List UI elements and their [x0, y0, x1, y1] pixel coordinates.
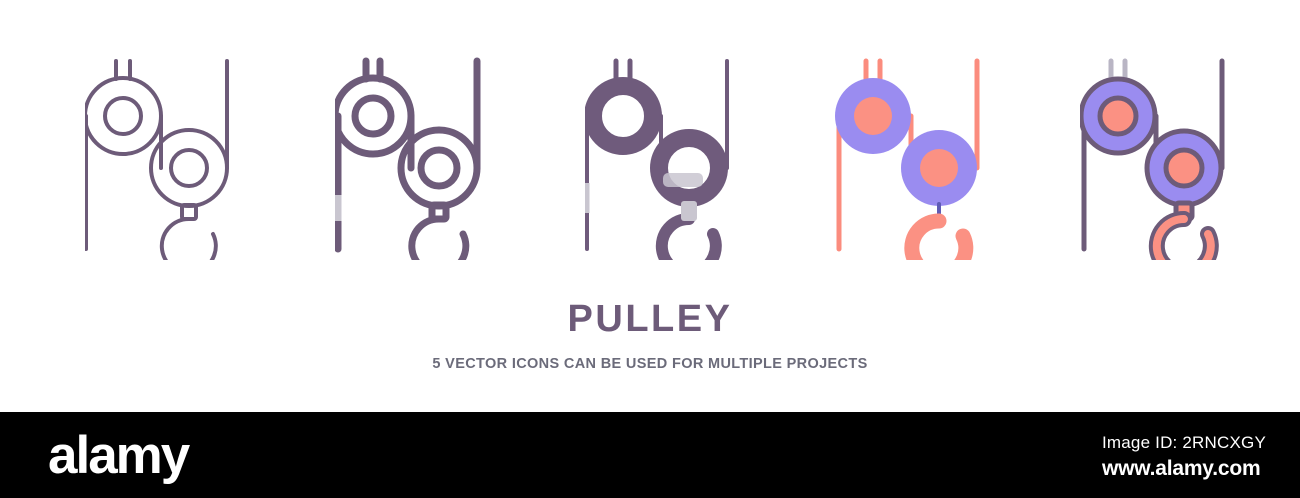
hook-curve: [412, 219, 466, 260]
alamy-logo: alamy: [48, 429, 188, 482]
image-id-label: Image ID: 2RNCXGY: [1102, 432, 1266, 454]
lower-wheel-hub: [1166, 150, 1202, 186]
page-subtitle: 5 VECTOR ICONS CAN BE USED FOR MULTIPLE …: [0, 356, 1300, 372]
alamy-url: www.alamy.com: [1102, 456, 1266, 482]
icon-strip: [0, 0, 1300, 290]
upper-wheel-hub: [854, 97, 892, 135]
pulley-icon-thin-line-svg: [85, 55, 245, 260]
pulley-icon-flat-color-svg: [835, 55, 995, 260]
upper-wheel-outer: [85, 78, 161, 154]
hook-shank-accent: [681, 201, 697, 221]
pulley-icon-filled-outline: [1080, 55, 1240, 260]
pulley-icon-thin-line: [85, 55, 245, 260]
upper-wheel-hub: [1100, 98, 1136, 134]
pulley-icon-filled-outline-svg: [1080, 55, 1240, 260]
pulley-icon-solid-glyph-svg: [585, 55, 745, 260]
upper-wheel-ring: [593, 86, 653, 146]
upper-wheel-outer: [335, 78, 411, 154]
pulley-icon-flat-color: [835, 55, 995, 260]
page-title: PULLEY: [0, 300, 1300, 340]
pulley-icon-solid-glyph: [585, 55, 745, 260]
upper-wheel-hub: [105, 98, 141, 134]
lower-wheel-ring: [659, 138, 719, 198]
wheel-shadow-accent: [663, 173, 703, 187]
image-canvas: PULLEY 5 VECTOR ICONS CAN BE USED FOR MU…: [0, 0, 1300, 498]
upper-wheel-hub: [355, 98, 391, 134]
hook-curve: [912, 221, 966, 260]
watermark-bar: alamy Image ID: 2RNCXGY www.alamy.com: [0, 412, 1300, 498]
hook-curve: [162, 219, 216, 260]
hook-curve: [662, 219, 716, 260]
lower-wheel-hub: [171, 150, 207, 186]
lower-wheel-hub: [421, 150, 457, 186]
watermark-info: Image ID: 2RNCXGY www.alamy.com: [1102, 432, 1266, 482]
lower-wheel-hub: [920, 149, 958, 187]
pulley-icon-bold-line: [335, 55, 495, 260]
caption-block: PULLEY 5 VECTOR ICONS CAN BE USED FOR MU…: [0, 300, 1300, 372]
pulley-icon-bold-line-svg: [335, 55, 495, 260]
